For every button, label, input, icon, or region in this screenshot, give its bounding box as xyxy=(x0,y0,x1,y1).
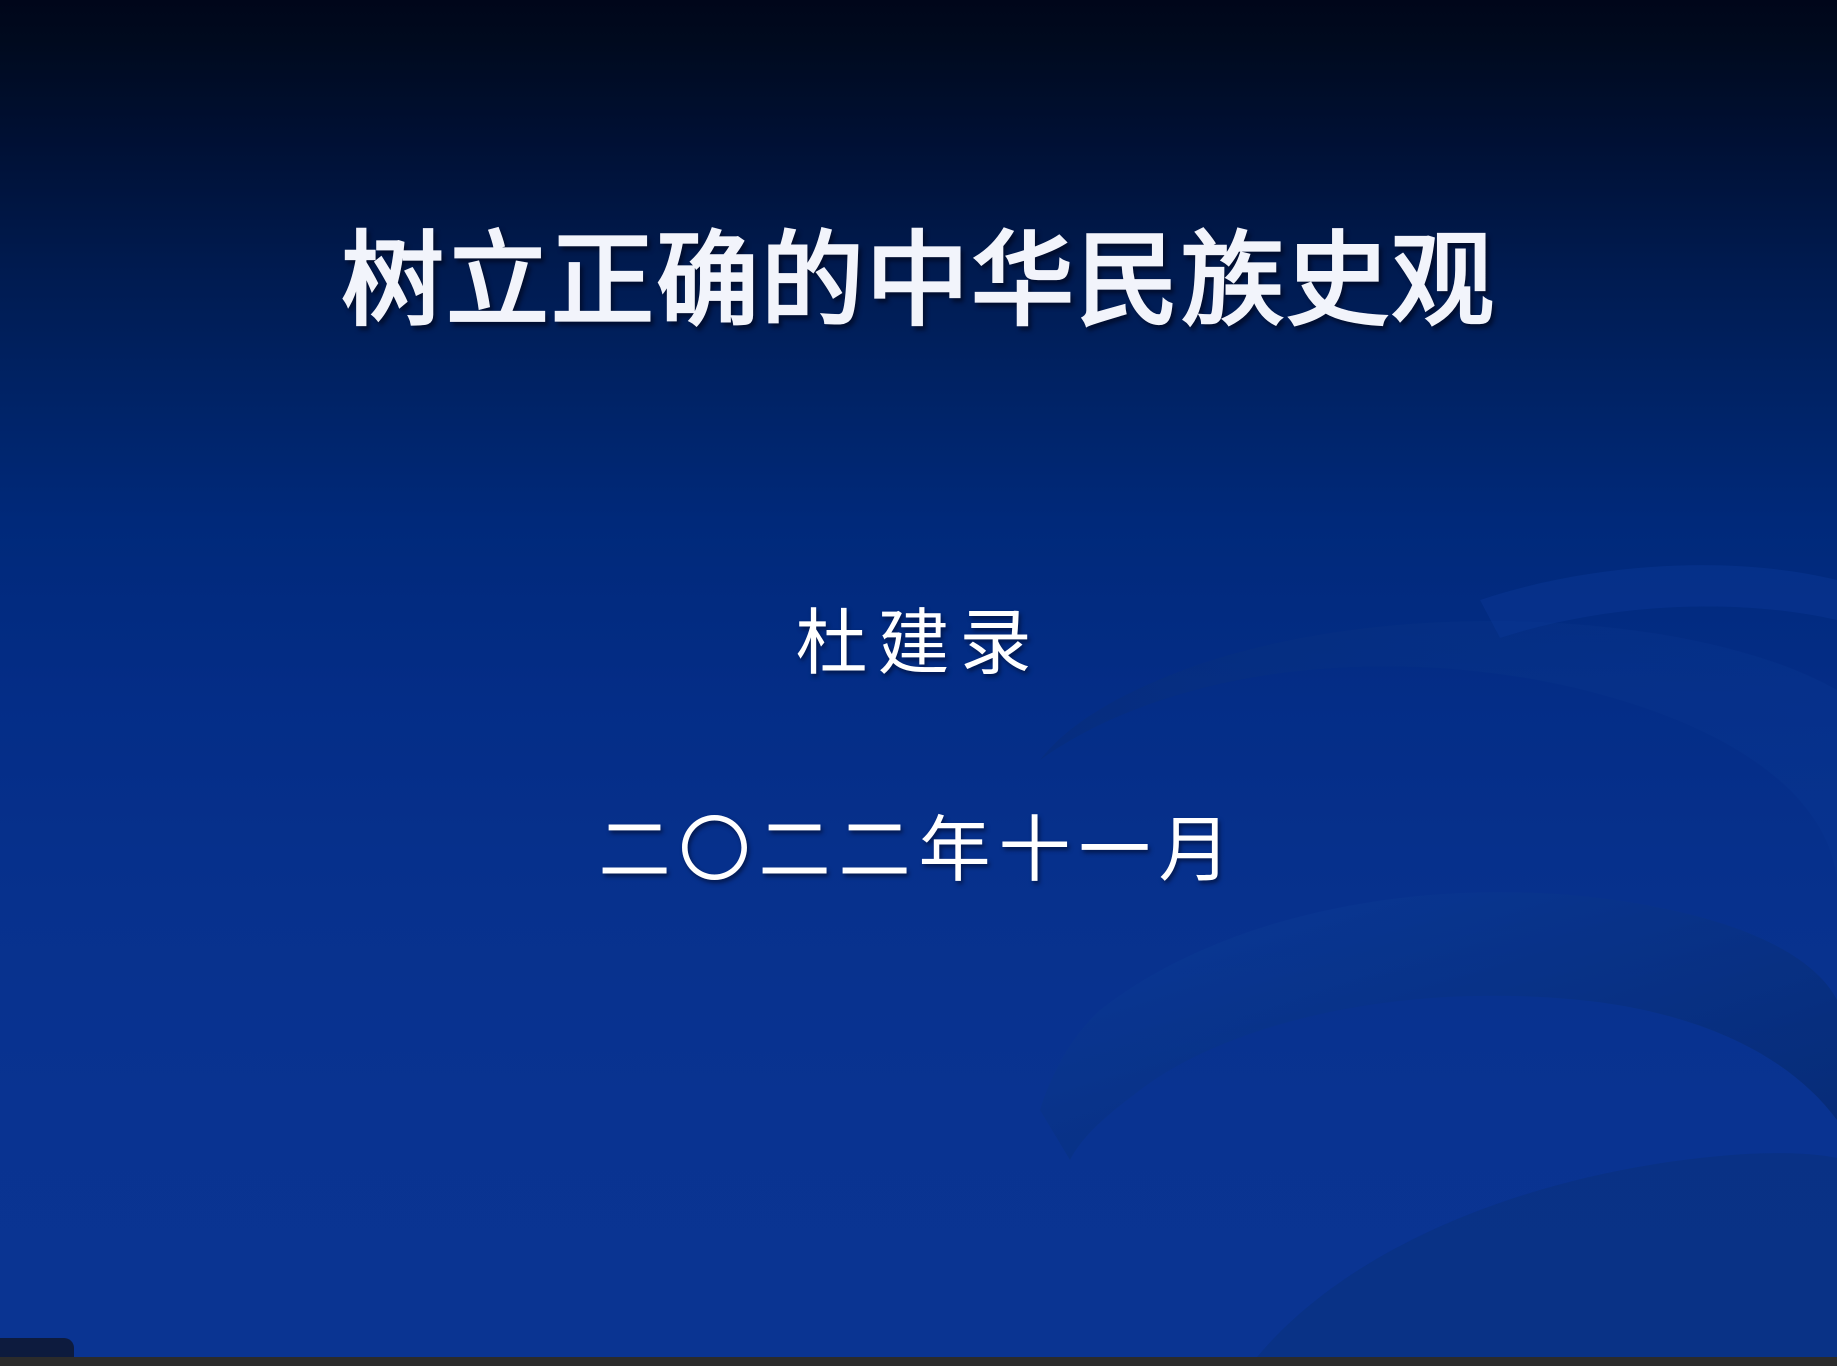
slide-author-container: 杜建录 xyxy=(0,598,1837,688)
presentation-slide: 树立正确的中华民族史观 杜建录 二〇二二年十一月 xyxy=(0,0,1837,1366)
bottom-left-corner-tab xyxy=(0,1338,74,1357)
author-name: 杜建录 xyxy=(795,598,1041,688)
bottom-chrome-bar xyxy=(0,1357,1837,1366)
slide-date-container: 二〇二二年十一月 xyxy=(0,805,1837,895)
slide-title-container: 树立正确的中华民族史观 xyxy=(0,222,1837,340)
presentation-date: 二〇二二年十一月 xyxy=(598,805,1238,895)
page-title: 树立正确的中华民族史观 xyxy=(341,222,1496,340)
